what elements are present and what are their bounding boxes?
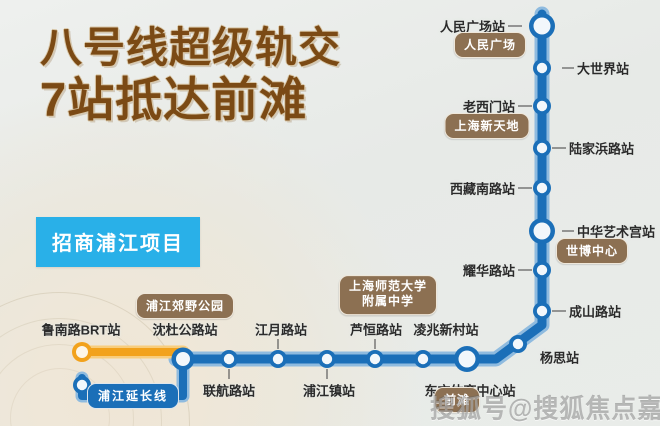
watermark-text: 搜狐号@搜狐焦点嘉酥芳站 [430, 388, 660, 426]
station-dot-inner [76, 346, 88, 358]
project-badge: 招商浦江项目 [36, 217, 200, 267]
station-label-luheng-lu: 芦恒路站 [350, 320, 402, 339]
station-dot-inner [537, 143, 547, 153]
station-dot-inner [370, 354, 380, 364]
station-label-lujiabang-lu: 陆家浜路站 [569, 139, 634, 158]
station-dot-inner [534, 223, 551, 240]
station-dot-inner [537, 101, 547, 111]
poi-tag-shibo-zhongxin: 世博中心 [556, 238, 628, 264]
station-dot-inner [418, 354, 428, 364]
station-dot-inner [459, 351, 476, 368]
poi-tag-shanghai-shifan-daxue-fushu-zhongxue: 上海师范大学 附属中学 [339, 275, 437, 315]
station-dot-inner [273, 354, 283, 364]
poi-tag-pujiang-jiaoye-gongyuan: 浦江郊野公园 [136, 293, 234, 319]
station-label-yangsi: 杨思站 [540, 348, 579, 367]
station-dot-inner [176, 352, 190, 366]
station-label-xizang-nanlu: 西藏南路站 [450, 179, 515, 198]
poi-tag-xintiandi: 上海新天地 [444, 113, 529, 139]
poi-tag-line-1: 上海师范大学 [349, 279, 427, 293]
station-label-yaohua-lu: 耀华路站 [463, 261, 515, 280]
station-label-lingzhao-xincun: 凌兆新村站 [413, 320, 478, 339]
station-label-dashijie: 大世界站 [577, 59, 629, 78]
metro-map-poster: 八号线超级轨交 7站抵达前滩 招商浦江项目 [0, 0, 660, 426]
poi-tag-line-2: 附属中学 [349, 295, 427, 310]
station-label-chengshan-lu: 成山路站 [569, 302, 621, 321]
station-dot-inner [534, 18, 551, 35]
branch-tag-pujiang-extension: 浦江延长线 [87, 383, 179, 409]
station-dot-inner [537, 265, 547, 275]
station-label-lunan-lu-brt: 鲁南路BRT站 [42, 320, 121, 339]
station-dot-inner [77, 380, 87, 390]
station-label-pujiang-zhen: 浦江镇站 [303, 381, 355, 400]
station-dot-inner [322, 354, 332, 364]
station-dot-inner [224, 354, 234, 364]
headline-line-1: 八号线超级轨交 [40, 26, 341, 71]
headline-block: 八号线超级轨交 7站抵达前滩 [40, 26, 341, 124]
station-dot-inner [537, 183, 547, 193]
station-label-lianhang-lu: 联航路站 [203, 381, 255, 400]
station-dot-inner [537, 63, 547, 73]
poi-tag-renmin-guangchang: 人民广场 [454, 32, 526, 58]
station-label-shendu-gonglu: 沈杜公路站 [152, 320, 217, 339]
station-dot-inner [537, 306, 547, 316]
station-dot-inner [513, 339, 523, 349]
headline-line-2: 7站抵达前滩 [40, 75, 341, 125]
station-label-jiangyue-lu: 江月路站 [255, 320, 307, 339]
